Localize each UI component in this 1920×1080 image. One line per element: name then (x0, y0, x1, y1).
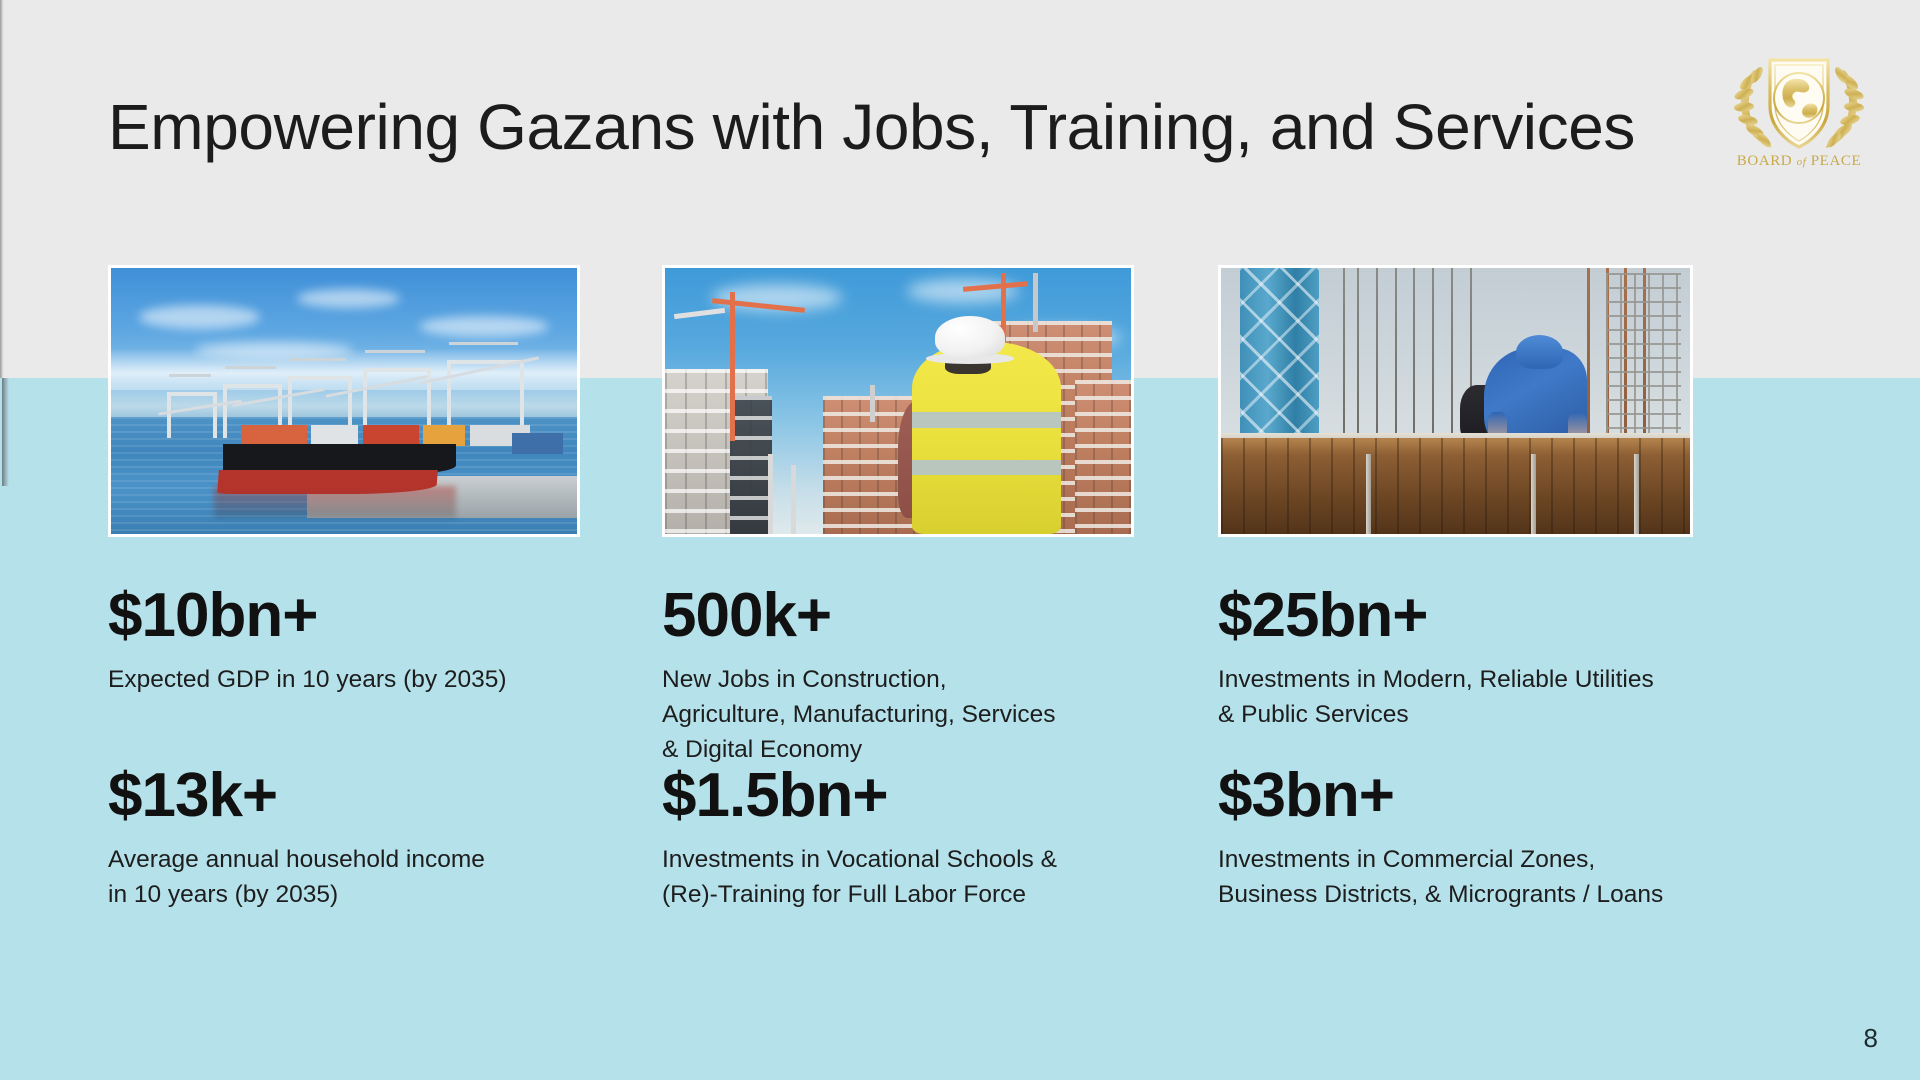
stat-line: Average annual household income (108, 843, 485, 878)
stat-line: (Re)-Training for Full Labor Force (662, 878, 1057, 913)
stat-vocational-investment-number: $1.5bn+ (662, 765, 1057, 827)
stat-gdp-number: $10bn+ (108, 585, 507, 647)
stat-new-jobs-number: 500k+ (662, 585, 1056, 647)
stat-utilities-investment-number: $25bn+ (1218, 585, 1654, 647)
stat-vocational-investment-description: Investments in Vocational Schools & (Re)… (662, 843, 1057, 913)
stats-columns: $10bn+ Expected GDP in 10 years (by 2035… (0, 0, 1920, 1080)
stat-commercial-investment-number: $3bn+ (1218, 765, 1663, 827)
formwork-worker-photo (1221, 268, 1690, 534)
column-1: $10bn+ Expected GDP in 10 years (by 2035… (108, 265, 668, 537)
stat-household-income-number: $13k+ (108, 765, 485, 827)
seaport-photo (111, 268, 577, 534)
stat-line: Investments in Vocational Schools & (662, 843, 1057, 878)
presentation-slide: Empowering Gazans with Jobs, Training, a… (0, 0, 1920, 1080)
stat-household-income-description: Average annual household income in 10 ye… (108, 843, 485, 913)
stat-household-income: $13k+ Average annual household income in… (108, 765, 485, 913)
stat-new-jobs-description: New Jobs in Construction, Agriculture, M… (662, 663, 1056, 767)
stat-commercial-investment-description: Investments in Commercial Zones, Busines… (1218, 843, 1663, 913)
column-3: $25bn+ Investments in Modern, Reliable U… (1218, 265, 1778, 537)
stat-line: Agriculture, Manufacturing, Services (662, 698, 1056, 733)
stat-utilities-investment: $25bn+ Investments in Modern, Reliable U… (1218, 585, 1654, 733)
stat-new-jobs: 500k+ New Jobs in Construction, Agricult… (662, 585, 1056, 767)
stat-line: in 10 years (by 2035) (108, 878, 485, 913)
column-3-photo-frame (1218, 265, 1693, 537)
stat-utilities-investment-description: Investments in Modern, Reliable Utilitie… (1218, 663, 1654, 733)
stat-line: Expected GDP in 10 years (by 2035) (108, 663, 507, 698)
stat-line: Investments in Modern, Reliable Utilitie… (1218, 663, 1654, 698)
page-number: 8 (1864, 1023, 1878, 1054)
stat-gdp: $10bn+ Expected GDP in 10 years (by 2035… (108, 585, 507, 698)
stat-vocational-investment: $1.5bn+ Investments in Vocational School… (662, 765, 1057, 913)
column-1-photo-frame (108, 265, 580, 537)
column-2-photo-frame (662, 265, 1134, 537)
construction-worker-photo (665, 268, 1131, 534)
stat-line: Investments in Commercial Zones, (1218, 843, 1663, 878)
stat-commercial-investment: $3bn+ Investments in Commercial Zones, B… (1218, 765, 1663, 913)
column-2: 500k+ New Jobs in Construction, Agricult… (662, 265, 1222, 537)
stat-line: New Jobs in Construction, (662, 663, 1056, 698)
stat-line: & Public Services (1218, 698, 1654, 733)
stat-line: Business Districts, & Microgrants / Loan… (1218, 878, 1663, 913)
stat-gdp-description: Expected GDP in 10 years (by 2035) (108, 663, 507, 698)
